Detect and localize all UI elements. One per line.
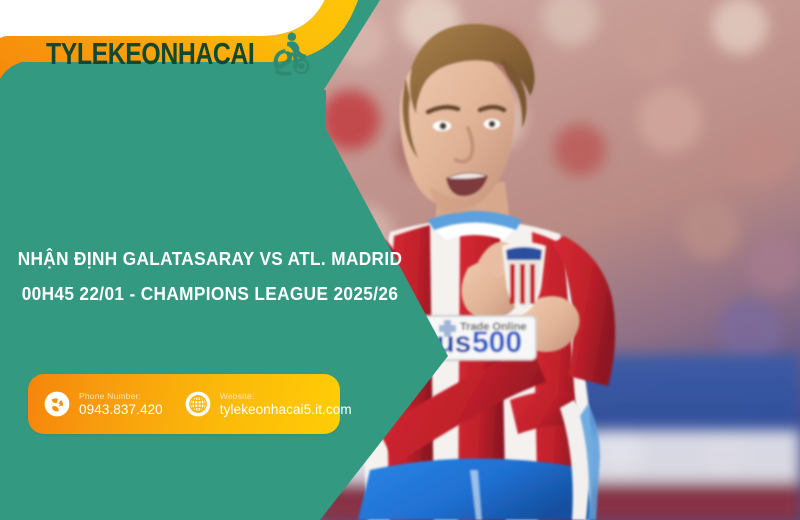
- contact-website-value: tylekeonhacai5.it.com: [220, 403, 352, 417]
- contact-bar: Phone Number: 0943.837.420 Website:: [28, 374, 340, 434]
- promo-banner: Plus 500 Trade Online: [0, 0, 800, 520]
- contact-website-text: Website: tylekeonhacai5.it.com: [220, 392, 352, 417]
- contact-phone-value: 0943.837.420: [79, 403, 163, 417]
- match-title-line1: NHẬN ĐỊNH GALATASARAY VS ATL. MADRID: [15, 250, 406, 269]
- contact-website[interactable]: Website: tylekeonhacai5.it.com: [185, 391, 352, 417]
- contact-website-label: Website:: [220, 392, 352, 401]
- contact-phone-label: Phone Number:: [79, 392, 163, 401]
- soccer-player-kicking-ball-icon: [266, 30, 312, 76]
- globe-icon: [185, 391, 211, 417]
- contact-phone[interactable]: Phone Number: 0943.837.420: [44, 391, 163, 417]
- logo-wordmark: TYLEKEONHACAI: [46, 38, 254, 69]
- match-title-line2: 00H45 22/01 - CHAMPIONS LEAGUE 2025/26: [15, 285, 406, 304]
- jersey-sponsor: Plus 500 Trade Online: [396, 316, 536, 360]
- match-title: NHẬN ĐỊNH GALATASARAY VS ATL. MADRID 00H…: [0, 250, 420, 303]
- phone-circle-icon: [44, 391, 70, 417]
- site-logo[interactable]: TYLEKEONHACAI: [46, 30, 312, 76]
- contact-phone-text: Phone Number: 0943.837.420: [79, 392, 163, 417]
- svg-text:Trade Online: Trade Online: [460, 321, 527, 333]
